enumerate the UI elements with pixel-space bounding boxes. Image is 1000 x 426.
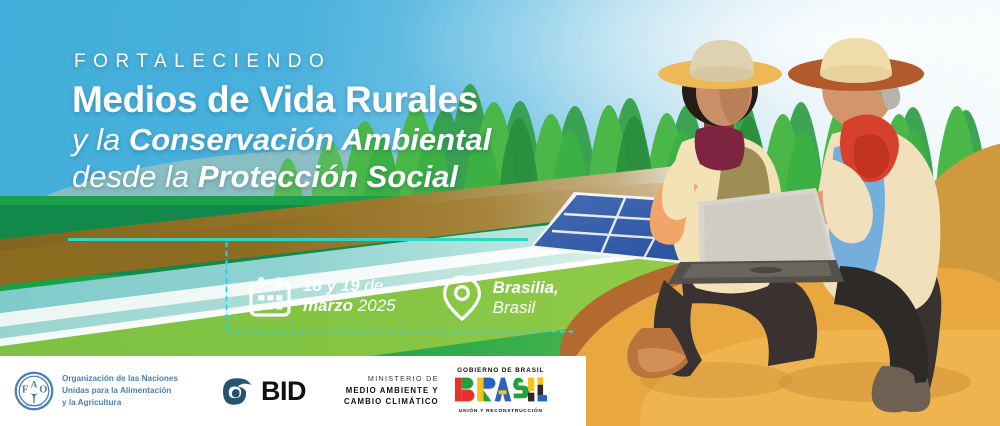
calendar-icon — [248, 274, 292, 318]
event-location-text: Brasilia, Brasil — [493, 278, 559, 317]
svg-text:O: O — [39, 385, 47, 396]
bid-logo-icon — [218, 375, 256, 408]
event-date-line-1: 18 y 19 de — [303, 276, 396, 296]
event-date-de: de — [360, 276, 384, 295]
fao-text-line-1: Organización de las Naciones — [62, 373, 178, 385]
event-country: Brasil — [493, 298, 559, 318]
title-line-1: Medios de Vida Rurales — [72, 81, 632, 119]
title-line-3-light: desde la — [72, 159, 198, 194]
fao-logo-text: Organización de las Naciones Unidas para… — [62, 373, 178, 409]
title-line-2-bold: Conservación Ambiental — [129, 122, 491, 157]
fao-text-line-3: y la Agricultura — [62, 397, 178, 409]
event-date-text: 18 y 19 de marzo 2025 — [303, 276, 396, 315]
event-info-row: 18 y 19 de marzo 2025 Brasilia, Brasil — [248, 274, 559, 322]
event-date: 18 y 19 de marzo 2025 — [248, 274, 396, 318]
svg-text:FIAT PANIS: FIAT PANIS — [26, 404, 43, 408]
kicker-text: FORTALECIENDO — [74, 52, 632, 71]
title-line-2: y la Conservación Ambiental — [72, 122, 632, 158]
event-banner: FORTALECIENDO Medios de Vida Rurales y l… — [0, 0, 1000, 426]
title-line-3: desde la Protección Social — [72, 159, 632, 195]
bid-wordmark: BID — [261, 378, 306, 405]
ministry-line-2: MEDIO AMBIENTE Y — [344, 385, 439, 397]
accent-rule — [68, 238, 528, 241]
title-line-2-light: y la — [72, 122, 129, 157]
ministry-line-3: CAMBIO CLIMÁTICO — [344, 396, 439, 408]
ministry-logo[interactable]: MINISTERIO DE MEDIO AMBIENTE Y CAMBIO CL… — [344, 374, 439, 408]
svg-text:F: F — [22, 385, 28, 396]
brasil-wordmark-icon — [453, 376, 549, 403]
title-line-3-bold: Protección Social — [198, 159, 458, 194]
event-date-days: 18 y 19 — [303, 276, 360, 295]
dotted-divider-vertical — [225, 240, 228, 332]
bid-logo[interactable]: BID — [218, 375, 306, 408]
fao-logo[interactable]: F A O FIAT PANIS Organización de las Nac… — [14, 371, 178, 411]
map-pin-icon — [442, 274, 482, 322]
svg-text:A: A — [31, 380, 38, 391]
headline-block: FORTALECIENDO Medios de Vida Rurales y l… — [72, 52, 632, 195]
event-date-month: marzo — [303, 296, 353, 315]
ministry-line-1: MINISTERIO DE — [344, 374, 439, 385]
dotted-divider-horizontal — [225, 330, 573, 333]
farmers-illustration — [620, 30, 1000, 426]
fao-text-line-2: Unidas para la Alimentación — [62, 385, 178, 397]
event-city: Brasilia, — [493, 278, 559, 298]
brasil-gov-bottom-text: UNIÓN Y RECONSTRUCCIÓN — [453, 408, 549, 415]
fao-logo-icon: F A O FIAT PANIS — [14, 371, 54, 411]
brasil-gov-top-text: GOBIERNO DE BRASIL — [453, 367, 549, 376]
brasil-gov-logo[interactable]: GOBIERNO DE BRASIL — [453, 367, 549, 415]
event-date-year: 2025 — [353, 296, 396, 315]
footer-logo-bar: F A O FIAT PANIS Organización de las Nac… — [0, 356, 586, 426]
event-date-line-2: marzo 2025 — [303, 296, 396, 316]
event-location: Brasilia, Brasil — [442, 274, 559, 322]
